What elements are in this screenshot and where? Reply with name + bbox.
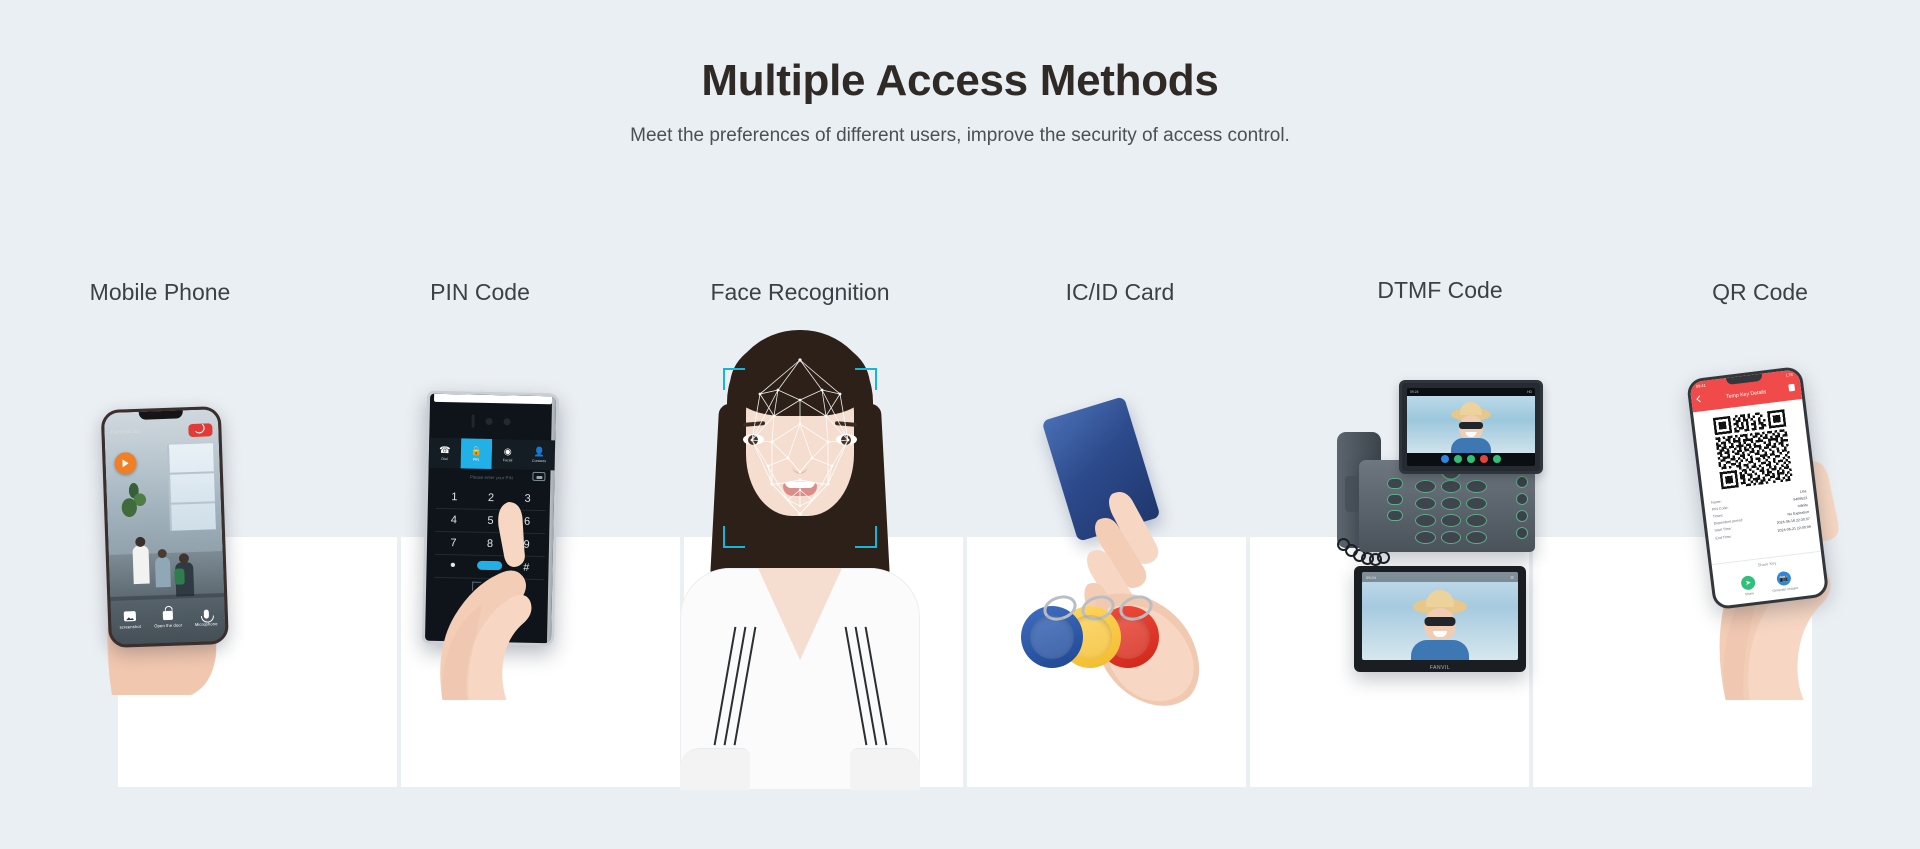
phone-hangup-icon[interactable] [188, 423, 212, 437]
generate-image-button[interactable]: 📷 Generate images [1770, 570, 1798, 593]
keypad-key-0 [1441, 531, 1462, 544]
face-mesh-overlay [730, 354, 870, 534]
tablet-screen[interactable]: 09:24 ☰ [1362, 572, 1518, 660]
key-fob-group[interactable] [1021, 598, 1171, 668]
keypad-key-1 [1415, 480, 1436, 493]
keypad-key-9 [1466, 514, 1487, 527]
method-item-pin-code[interactable]: ☎ Dial 🔒 PIN ◉ Facial 👤 Contacts [320, 330, 640, 790]
office-plant [118, 477, 153, 520]
keypad-key-6 [1466, 497, 1487, 510]
tab-dial[interactable]: ☎ Dial [429, 438, 461, 469]
office-window [167, 443, 216, 531]
backspace-icon[interactable] [532, 472, 545, 481]
tab-contacts[interactable]: 👤 Contacts [523, 440, 555, 471]
terminal-top-strip [434, 394, 552, 404]
phone-screen-status: HD [1527, 390, 1532, 394]
detail-value: 2024-06-21 22:00:09 [1777, 524, 1811, 532]
tablet-statusbar: 09:24 ☰ [1362, 572, 1518, 582]
qr-code-image [1713, 409, 1793, 489]
tab-pin-label: PIN [473, 457, 479, 461]
call-action-bar: screenshot Open the door Microphone [110, 593, 226, 645]
mobile-phone-device[interactable]: Familia478a screenshot Open the door [101, 406, 229, 648]
call-top-bar: Familia478a [104, 419, 219, 443]
trash-icon[interactable] [1788, 384, 1795, 392]
share-icon: ➤ [1740, 575, 1756, 591]
answer-icon [1454, 455, 1462, 463]
visitor-torso [1451, 438, 1491, 453]
tablet-status-time: 09:24 [1366, 575, 1376, 580]
lock-icon: 🔒 [471, 446, 482, 455]
share-button-row[interactable]: ➤ Share 📷 Generate images [1714, 567, 1826, 600]
terminal-tab-bar: ☎ Dial 🔒 PIN ◉ Facial 👤 Contacts [429, 438, 556, 471]
hand-pressing-keypad [436, 500, 564, 700]
keypad-key-4 [1415, 497, 1436, 510]
method-label-qr-code: QR Code [1600, 272, 1920, 312]
striped-blouse [680, 568, 920, 790]
function-keys-left[interactable] [1387, 478, 1403, 521]
ip-video-phone[interactable]: 09:24 HD [1337, 376, 1543, 566]
page-subtitle: Meet the preferences of different users,… [0, 107, 1920, 147]
phone-touchscreen[interactable]: 09:24 HD [1399, 380, 1543, 474]
access-methods-page: Multiple Access Methods Meet the prefere… [0, 0, 1920, 849]
keypad-key-2 [1441, 480, 1462, 493]
method-item-qr-code[interactable]: 09:41 LTE Temp Key Details [1600, 330, 1920, 790]
message-icon [1467, 455, 1475, 463]
camera-lens-icon [486, 417, 493, 424]
save-image-icon: 📷 [1776, 571, 1792, 587]
phone-icon: ☎ [439, 445, 450, 454]
arm-left [680, 748, 750, 790]
arm-right [850, 748, 920, 790]
tab-facial[interactable]: ◉ Facial [492, 439, 524, 470]
hangup-icon [1480, 455, 1488, 463]
method-label-dtmf-code: DTMF Code [1280, 270, 1600, 310]
face-recognition-subject [675, 330, 925, 790]
open-door-label: Open the door [154, 622, 182, 628]
terminal-sensor-row [429, 408, 555, 435]
detail-value: Infinite [1797, 503, 1808, 508]
tab-contacts-label: Contacts [532, 458, 546, 462]
share-button[interactable]: ➤ Share [1740, 575, 1756, 597]
detail-label: Name: [1711, 499, 1722, 504]
function-keys-right[interactable] [1516, 476, 1528, 539]
microphone-button[interactable]: Microphone [186, 593, 226, 642]
method-item-mobile-phone[interactable]: Familia478a screenshot Open the door [0, 330, 320, 790]
contacts-icon: 👤 [534, 447, 545, 456]
qr-code-phone[interactable]: 09:41 LTE Temp Key Details [1686, 366, 1829, 610]
detail-label: Times: [1713, 513, 1724, 518]
tablet-brand-logo: FANVIL [1354, 665, 1526, 671]
method-label-ic-id-card: IC/ID Card [960, 272, 1280, 312]
generate-image-label: Generate images [1772, 586, 1798, 593]
info-icon [1441, 455, 1449, 463]
lock-icon [163, 610, 173, 619]
temp-key-detail-list: Name: Lisa PIN Code: 9469523 Times: Infi… [1711, 487, 1812, 542]
screenshot-label: screenshot [119, 624, 141, 630]
indoor-monitor-tablet[interactable]: 09:24 ☰ FANVIL [1354, 566, 1526, 672]
office-person-2 [155, 557, 171, 588]
keypad-key-5 [1441, 497, 1462, 510]
terminal-led-bar [471, 414, 474, 427]
phone-screen-time: 09:24 [1410, 390, 1419, 394]
keypad-key-7 [1415, 514, 1436, 527]
method-label-mobile-phone: Mobile Phone [0, 272, 320, 312]
tab-dial-label: Dial [441, 456, 447, 460]
method-item-face-recognition[interactable] [640, 330, 960, 790]
office-person-1 [132, 546, 149, 585]
method-label-pin-code: PIN Code [320, 272, 640, 312]
scan-bracket-top-left [723, 368, 745, 390]
keypad-key-hash [1466, 531, 1487, 544]
detail-label: End Time: [1715, 534, 1732, 540]
visitor-sunglasses [1425, 617, 1456, 626]
dialpad-icon [1493, 455, 1501, 463]
method-label-face-recognition: Face Recognition [640, 272, 960, 312]
method-label-row: Mobile Phone PIN Code Face Recognition I… [0, 272, 1920, 312]
call-control-buttons[interactable] [1407, 453, 1535, 465]
face-scan-icon: ◉ [504, 447, 512, 456]
scan-bracket-bottom-left [723, 526, 745, 548]
tab-pin[interactable]: 🔒 PIN [460, 438, 492, 469]
caller-name: Familia478a [110, 429, 140, 436]
tab-facial-label: Facial [503, 458, 513, 462]
method-item-dtmf-code[interactable]: 09:24 HD [1280, 330, 1600, 790]
share-button-label: Share [1745, 591, 1754, 596]
dtmf-keypad[interactable] [1415, 480, 1487, 544]
page-title: Multiple Access Methods [0, 0, 1920, 107]
method-item-ic-id-card[interactable] [960, 330, 1280, 790]
visitor-video-feed [1407, 396, 1535, 453]
screenshot-icon [124, 611, 136, 621]
keypad-key-8 [1441, 514, 1462, 527]
microphone-icon [203, 609, 208, 618]
detail-value: Lisa [1800, 489, 1807, 494]
ir-sensor-icon [504, 418, 511, 425]
visitor-video-large [1408, 598, 1472, 660]
v-collar [758, 568, 842, 660]
scan-bracket-top-right [855, 368, 877, 390]
keypad-key-3 [1466, 480, 1487, 493]
qr-status-network: LTE [1786, 372, 1794, 378]
visitor-sunglasses [1459, 422, 1483, 429]
open-door-button[interactable]: Open the door [148, 594, 188, 643]
screenshot-icon-button[interactable]: screenshot [110, 596, 150, 645]
keypad-key-star [1415, 531, 1436, 544]
phone-screen-statusbar: 09:24 HD [1407, 388, 1535, 396]
tablet-status-icons: ☰ [1510, 575, 1514, 580]
office-person-3 [175, 562, 194, 597]
page-header: Multiple Access Methods Meet the prefere… [0, 0, 1920, 147]
scan-bracket-bottom-right [855, 526, 877, 548]
key-fob-blue[interactable] [1021, 606, 1083, 668]
device-stage: Familia478a screenshot Open the door [0, 330, 1920, 790]
hand-holding-card [1078, 448, 1228, 708]
phone-notch [139, 410, 183, 420]
visitor-torso [1411, 640, 1469, 660]
